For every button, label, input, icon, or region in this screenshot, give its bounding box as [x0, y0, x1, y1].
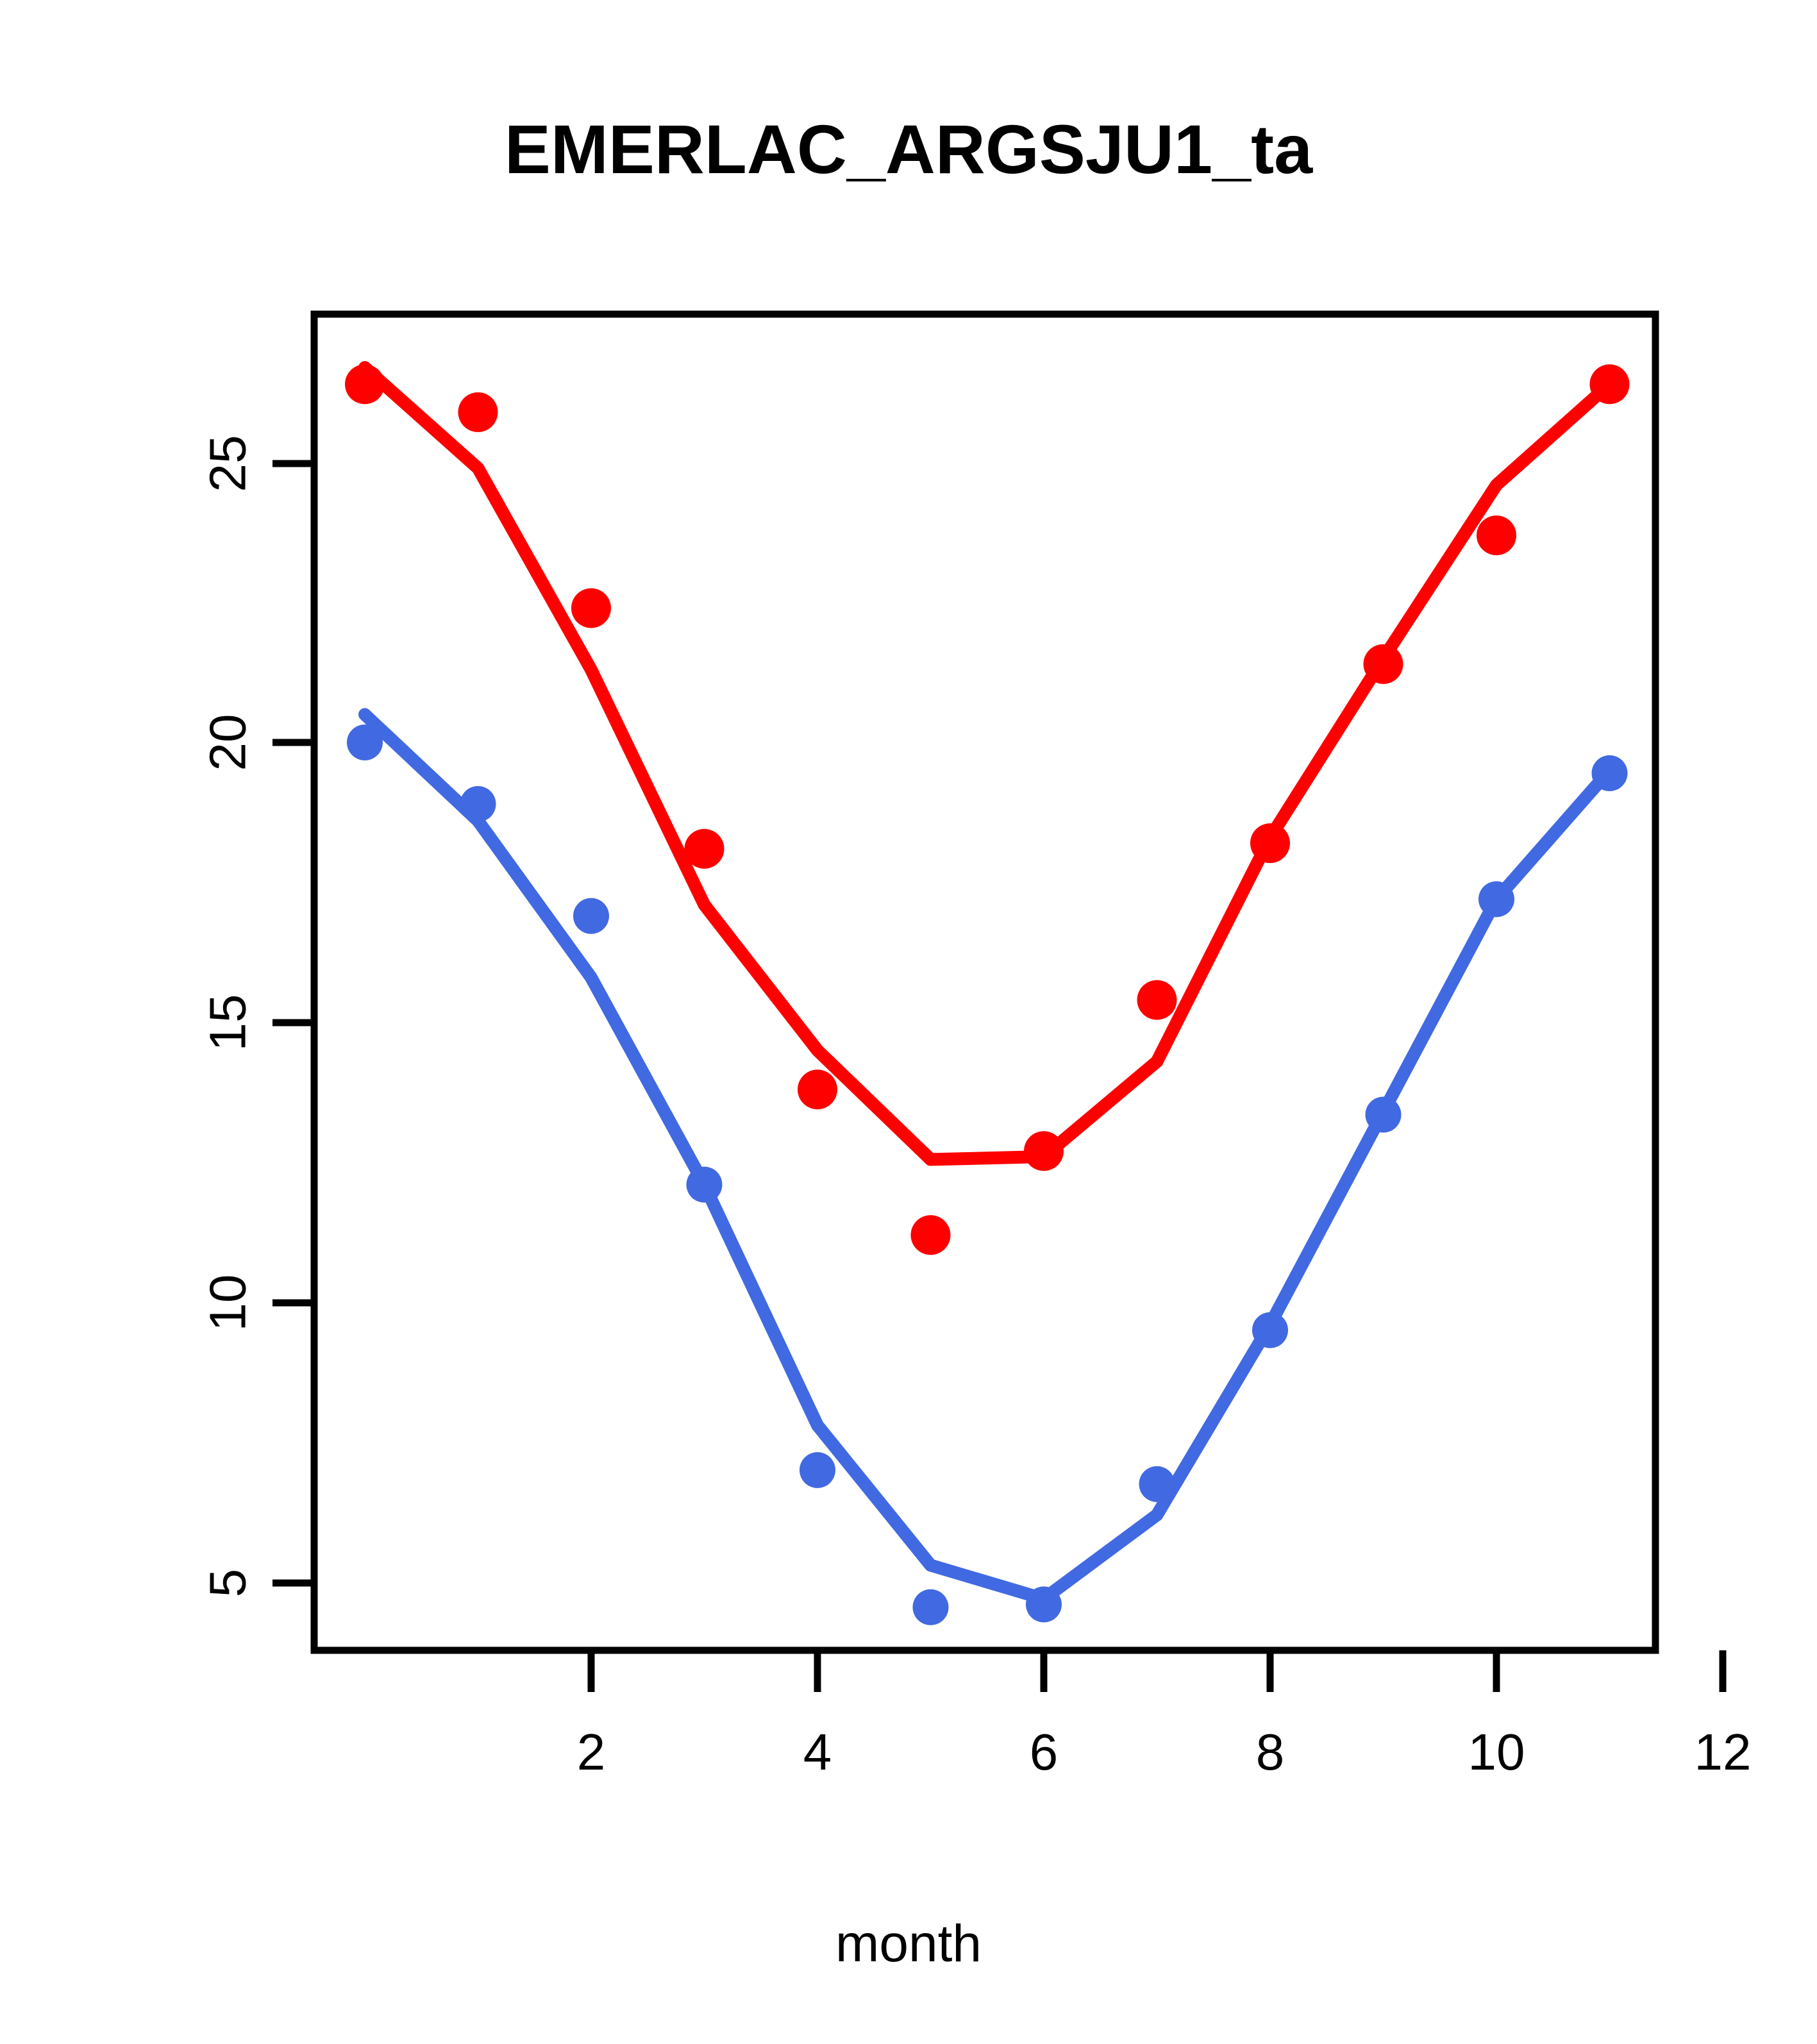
data-point: [460, 786, 496, 822]
x-tick-label-10: 10: [1468, 1723, 1525, 1780]
data-point: [1026, 1586, 1062, 1622]
data-point: [345, 364, 385, 404]
data-point: [1477, 515, 1516, 555]
data-point: [1592, 755, 1628, 791]
x-axis-label: month: [0, 1914, 1817, 1974]
data-point: [458, 392, 498, 432]
x-tick-label-4: 4: [803, 1723, 832, 1780]
data-point: [687, 1167, 723, 1203]
series-blue-points: [347, 725, 1628, 1625]
data-point: [913, 1589, 949, 1625]
data-point: [1250, 823, 1290, 863]
data-point: [571, 588, 611, 628]
y-tick-label-5: 5: [199, 1569, 256, 1598]
x-tick-label-12: 12: [1695, 1723, 1752, 1780]
x-tick-label-8: 8: [1256, 1723, 1285, 1780]
x-tick-label-6: 6: [1030, 1723, 1059, 1780]
data-point: [1590, 364, 1630, 404]
y-axis-tick-labels: 25 20 15 10 5: [199, 435, 256, 1598]
chart-container: EMERLAC_ARGSJU1_ta 25 20 15 10 5: [0, 0, 1817, 2044]
data-point: [1478, 881, 1514, 917]
data-point: [573, 898, 609, 934]
x-axis-ticks: [591, 1650, 1723, 1692]
data-point: [798, 1069, 837, 1109]
data-point: [1139, 1466, 1175, 1502]
y-tick-label-15: 15: [199, 994, 256, 1051]
data-point: [685, 829, 724, 869]
data-point: [1364, 644, 1403, 684]
x-tick-label-2: 2: [577, 1723, 606, 1780]
y-tick-label-20: 20: [199, 714, 256, 771]
data-point: [1137, 980, 1177, 1020]
x-axis-tick-labels: 2 4 6 8 10 12: [577, 1723, 1752, 1780]
chart-plot-area: 25 20 15 10 5 2 4 6 8 10 12: [0, 0, 1817, 2044]
data-point: [347, 725, 383, 760]
data-point: [1252, 1312, 1288, 1348]
y-tick-label-10: 10: [199, 1275, 256, 1332]
series-red-points: [345, 364, 1630, 1255]
y-axis-ticks: [272, 464, 314, 1583]
data-point: [1024, 1131, 1064, 1171]
y-tick-label-25: 25: [199, 435, 256, 492]
data-point: [800, 1452, 835, 1488]
data-point: [911, 1215, 951, 1255]
data-point: [1366, 1097, 1402, 1133]
